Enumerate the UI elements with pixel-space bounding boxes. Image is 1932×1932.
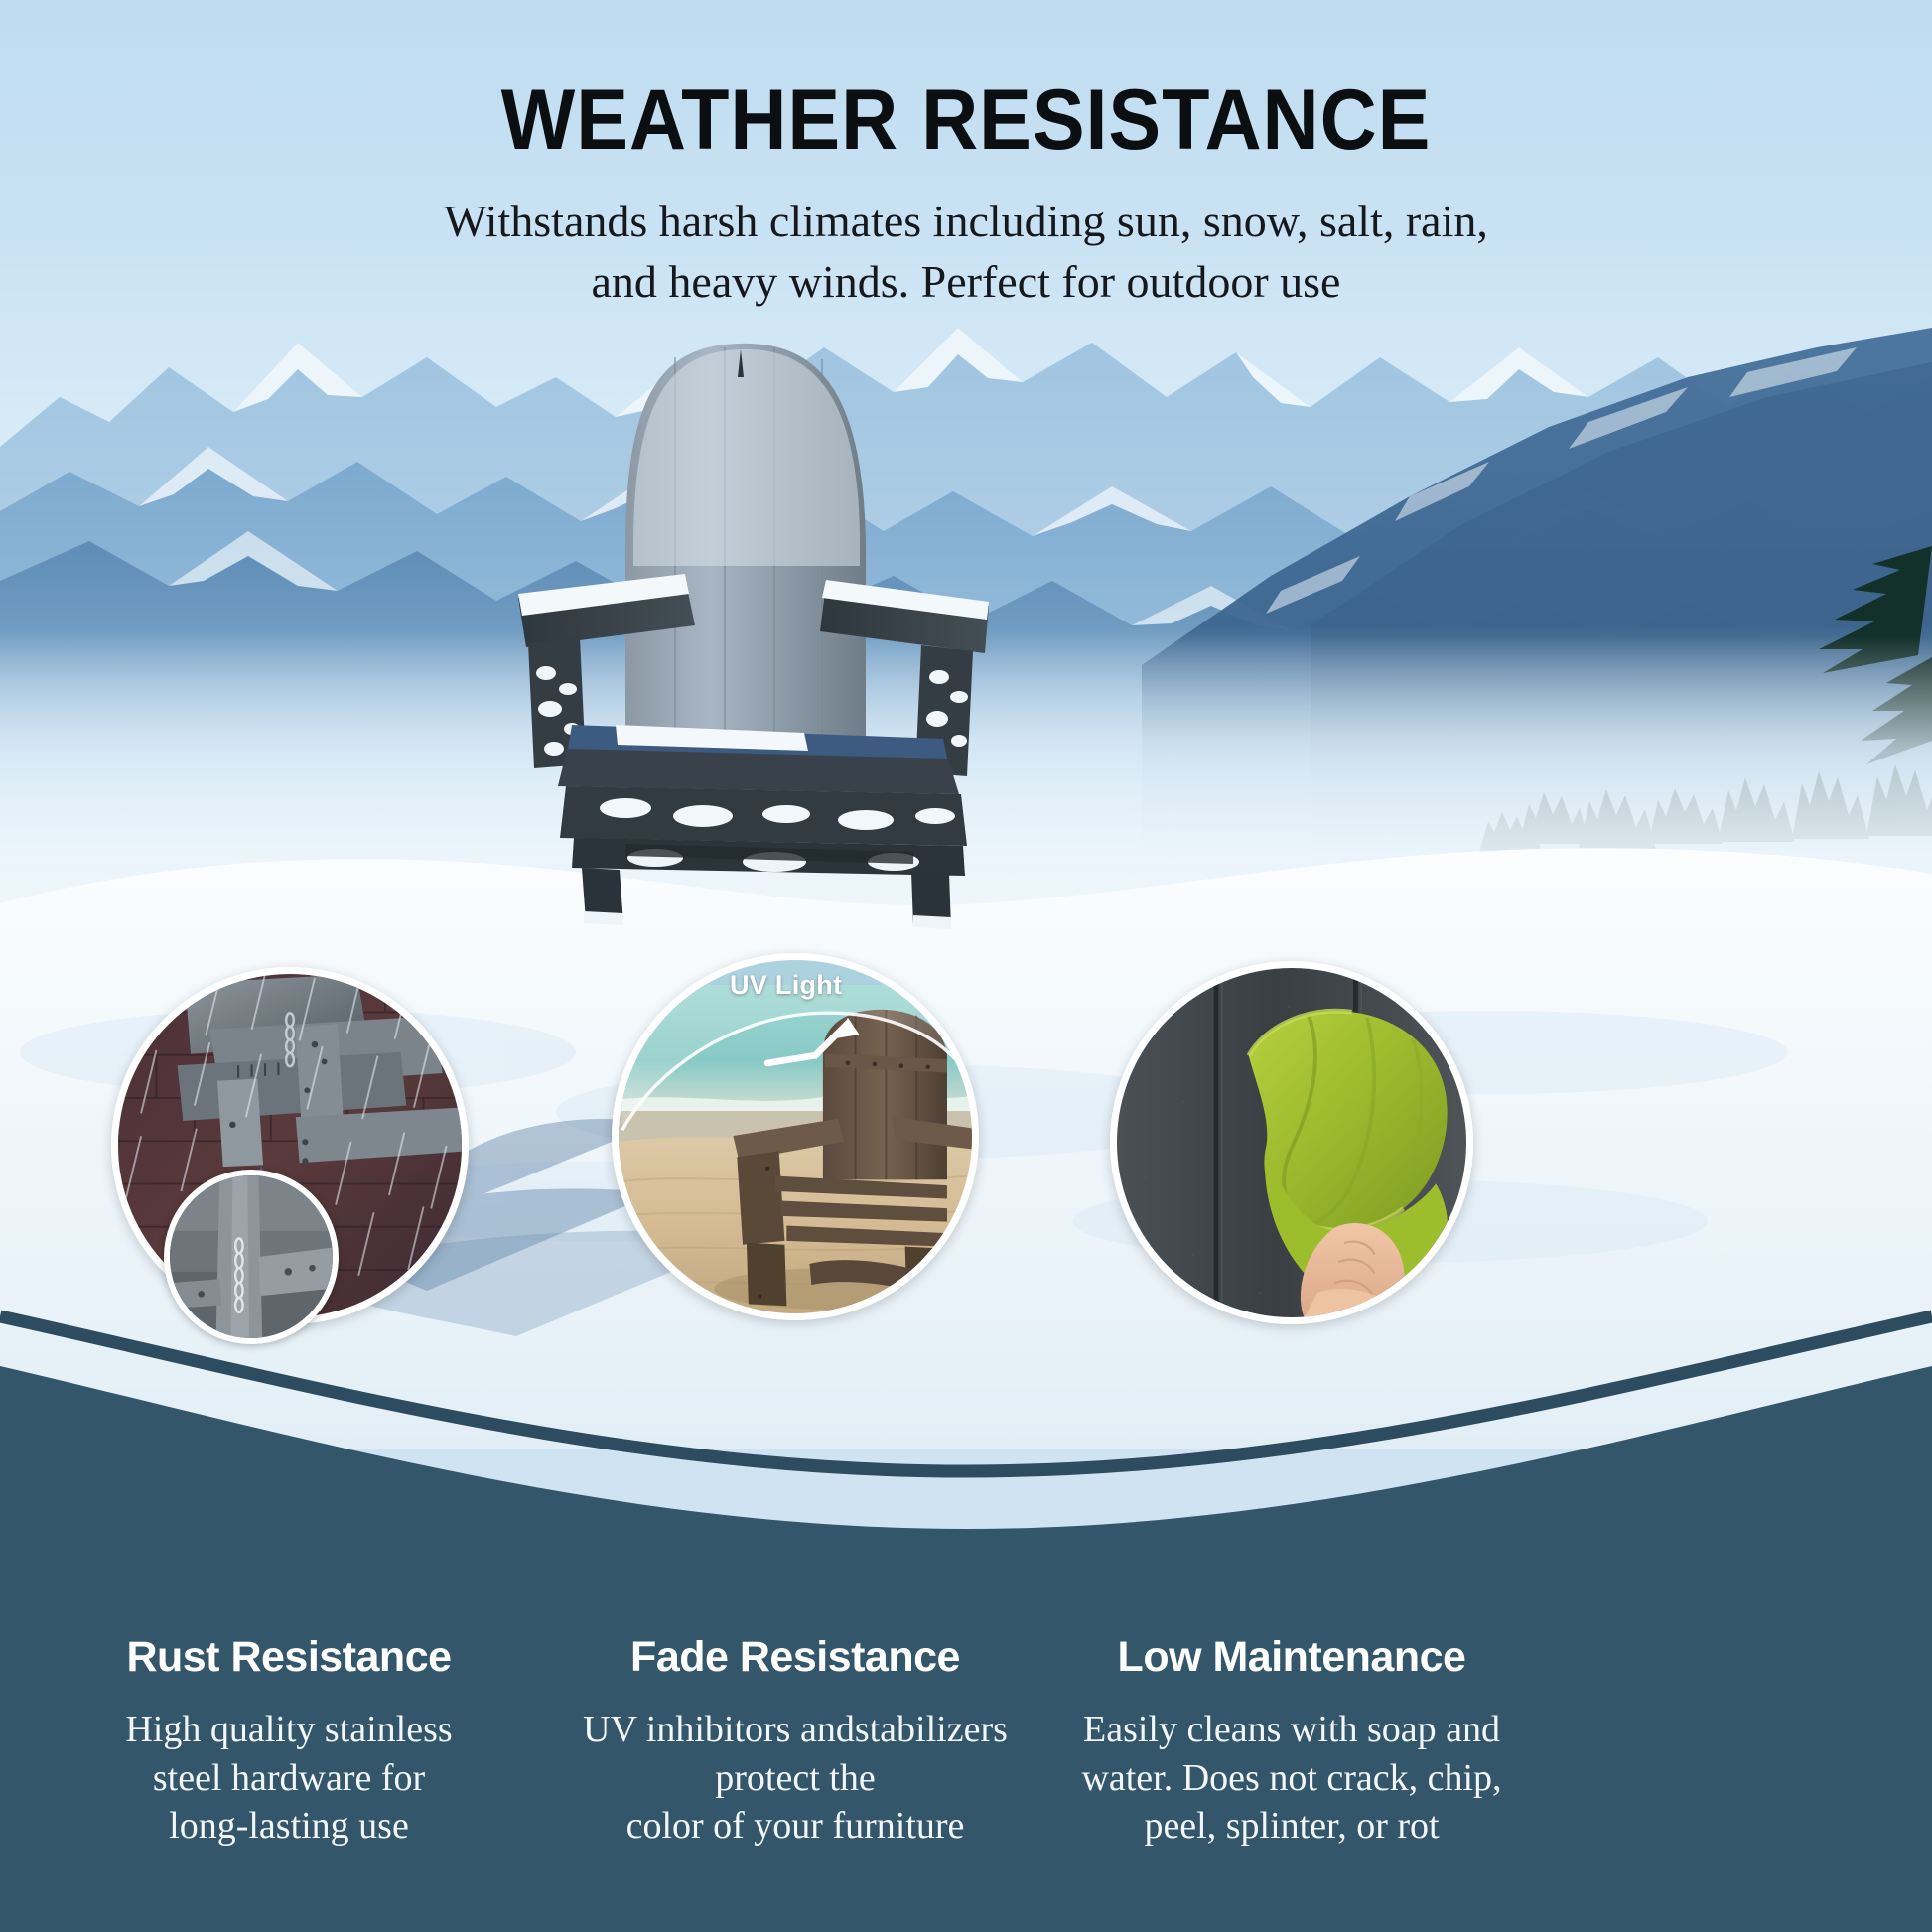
feature-block-fade-resistance: Fade Resistance UV inhibitors andstabili… — [562, 1633, 1029, 1851]
feature-desc-low-maintenance: Easily cleans with soap and water. Does … — [1058, 1706, 1525, 1851]
feature-desc-line: steel hardware for — [56, 1754, 522, 1803]
subtitle-line-2: and heavy winds. Perfect for outdoor use — [0, 251, 1932, 312]
subtitle-line-1: Withstands harsh climates including sun,… — [0, 191, 1932, 251]
feature-desc-line: water. Does not crack, chip, — [1058, 1754, 1525, 1803]
feature-image-low-maintenance — [1110, 961, 1473, 1324]
page-subtitle: Withstands harsh climates including sun,… — [0, 191, 1932, 312]
feature-desc-line: UV inhibitors andstabilizers — [562, 1706, 1029, 1754]
fade-resistance-photo — [619, 960, 972, 1313]
infographic-canvas: UV Light — [0, 0, 1932, 1932]
feature-block-low-maintenance: Low Maintenance Easily cleans with soap … — [1058, 1633, 1525, 1851]
feature-desc-line: long-lasting use — [56, 1802, 522, 1851]
page-title: WEATHER RESISTANCE — [77, 77, 1855, 163]
feature-block-rust-resistance: Rust Resistance High quality stainless s… — [56, 1633, 522, 1851]
hero-adirondack-chair — [477, 328, 1033, 943]
uv-light-annotation: UV Light — [730, 970, 842, 1001]
low-maintenance-photo — [1117, 968, 1466, 1317]
feature-desc-fade-resistance: UV inhibitors andstabilizers protect the… — [562, 1706, 1029, 1851]
feature-desc-line: High quality stainless — [56, 1706, 522, 1754]
feature-desc-line: protect the — [562, 1754, 1029, 1803]
feature-title-low-maintenance: Low Maintenance — [1058, 1633, 1525, 1682]
feature-title-fade-resistance: Fade Resistance — [562, 1633, 1029, 1682]
feature-desc-rust-resistance: High quality stainless steel hardware fo… — [56, 1706, 522, 1851]
rust-resistance-inset-closeup — [164, 1170, 339, 1344]
feature-desc-line: color of your furniture — [562, 1802, 1029, 1851]
feature-title-rust-resistance: Rust Resistance — [56, 1633, 522, 1682]
feature-image-fade-resistance — [612, 953, 979, 1320]
feature-desc-line: peel, splinter, or rot — [1058, 1802, 1525, 1851]
feature-desc-line: Easily cleans with soap and — [1058, 1706, 1525, 1754]
